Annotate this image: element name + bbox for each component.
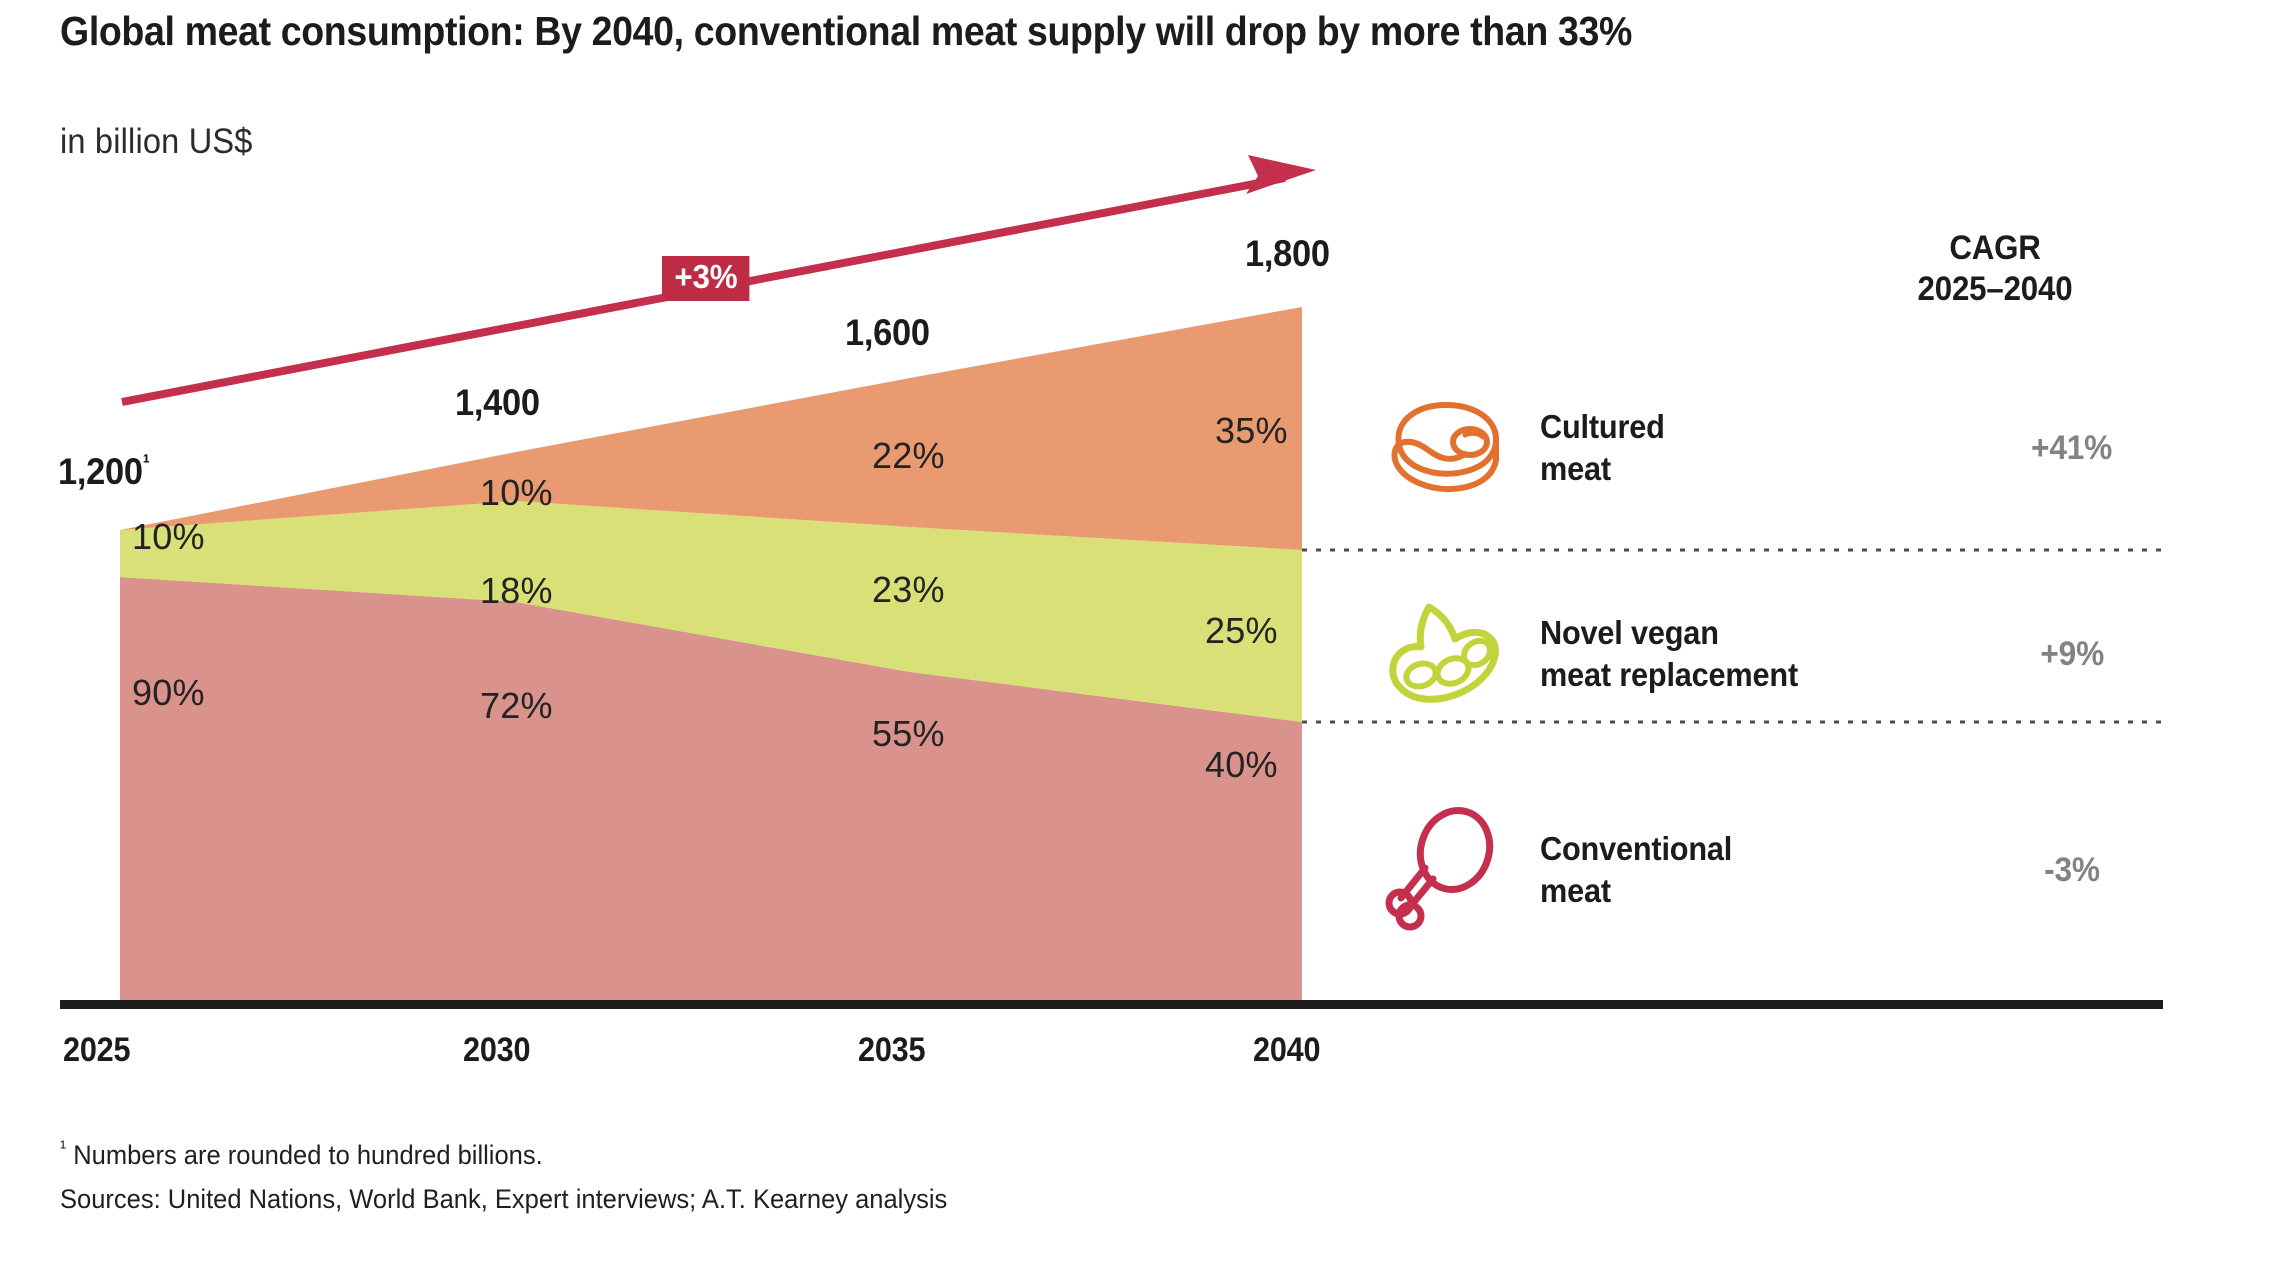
band-label-novel-vegan-2030: 18% [480,570,553,612]
legend-label-line2: meat replacement [1540,654,1977,696]
legend-label-line1: Novel vegan [1540,612,1977,654]
legend-label-line1: Cultured [1540,406,1977,448]
legend-label-conventional-meat: Conventional meat [1512,828,2010,912]
legend-label-novel-vegan: Novel vegan meat replacement [1512,612,2010,696]
cagr-value-conventional-meat: -3% [2010,851,2170,890]
cagr-value-text: +41% [2031,429,2112,468]
legend-label-cultured-meat: Cultured meat [1512,406,2010,490]
legend-item-cultured-meat: Cultured meat +41% [1380,378,2170,518]
band-label-novel-vegan-2025: 10% [132,516,205,558]
total-label-2035: 1,600 [845,312,930,354]
cagr-value-text: +9% [2040,635,2104,674]
legend-label-line1: Conventional [1540,828,1977,870]
x-axis-label-2025: 2025 [63,1031,130,1070]
footnotes: ¹ Numbers are rounded to hundred billion… [60,1133,999,1221]
legend-label-line2: meat [1540,870,1977,912]
band-cultured-meat [120,307,1302,550]
total-label-2040: 1,800 [1245,233,1330,275]
total-label-2030: 1,400 [455,382,540,424]
band-label-cultured-2035: 22% [872,435,945,477]
band-label-cultured-2040: 35% [1215,410,1288,452]
x-axis-label-2035: 2035 [858,1031,925,1070]
band-label-conventional-2035: 55% [872,713,945,755]
band-label-conventional-2025: 90% [132,672,205,714]
infographic-root: Global meat consumption: By 2040, conven… [0,0,2294,1278]
cagr-column-header: CAGR 2025–2040 [1860,228,2130,311]
legend-item-novel-vegan: Novel vegan meat replacement +9% [1380,584,2170,724]
steak-icon [1380,388,1512,508]
band-label-cultured-2030: 10% [480,472,553,514]
cagr-value-novel-vegan: +9% [2010,635,2170,674]
footnote-rounding: ¹ Numbers are rounded to hundred billion… [60,1133,947,1178]
total-label-2025: 1,200¹ [58,450,150,493]
x-axis-baseline [60,1000,2163,1009]
legend-label-line2: meat [1540,448,1977,490]
x-axis-label-2030: 2030 [463,1031,530,1070]
total-value-2025: 1,200¹ [58,451,150,492]
band-label-novel-vegan-2040: 25% [1205,610,1278,652]
footnote-sources: Sources: United Nations, World Bank, Exp… [60,1178,947,1222]
cagr-header-line1: CAGR [1871,228,2119,269]
cagr-value-cultured-meat: +41% [2010,429,2170,468]
x-axis-label-2040: 2040 [1253,1031,1320,1070]
band-label-conventional-2040: 40% [1205,744,1278,786]
cagr-value-text: -3% [2044,851,2100,890]
band-label-conventional-2030: 72% [480,685,553,727]
drumstick-icon [1380,810,1512,930]
growth-rate-badge: +3% [662,256,750,301]
soybean-icon [1380,594,1512,714]
legend-item-conventional-meat: Conventional meat -3% [1380,800,2170,940]
band-label-novel-vegan-2035: 23% [872,569,945,611]
cagr-header-line2: 2025–2040 [1871,269,2119,310]
